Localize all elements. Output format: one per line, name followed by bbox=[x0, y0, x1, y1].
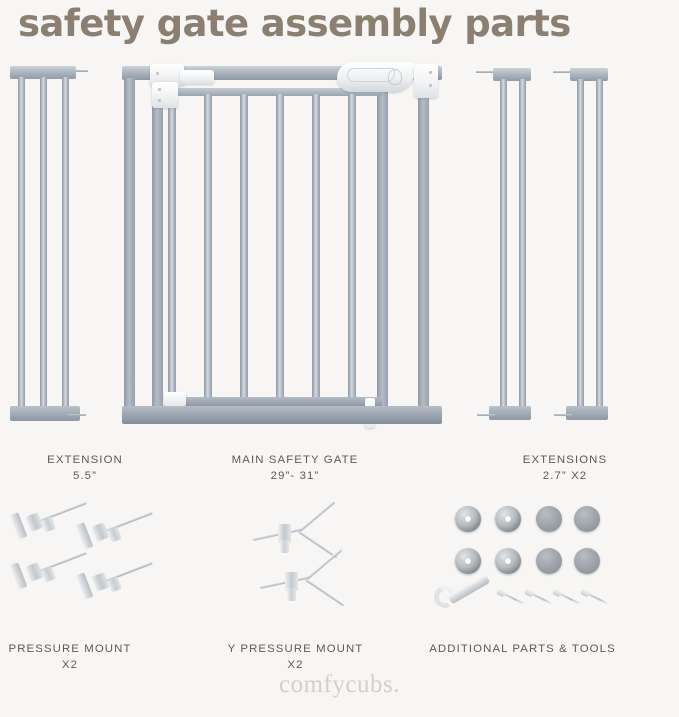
door-bar bbox=[240, 94, 248, 399]
extension-right-bottom-rod bbox=[554, 414, 572, 416]
screw-part bbox=[581, 590, 611, 596]
door-bar bbox=[312, 94, 320, 399]
pressure-mount-nut bbox=[41, 566, 56, 582]
y-mount-arm bbox=[298, 501, 335, 533]
extension-right-bar bbox=[500, 79, 507, 408]
gate-latch-bracket bbox=[414, 64, 438, 98]
screw-part bbox=[525, 590, 555, 596]
screw-dot-icon bbox=[429, 84, 432, 87]
screw-part bbox=[497, 590, 527, 596]
wall-cup-part bbox=[495, 548, 521, 574]
cap-part bbox=[536, 506, 562, 532]
pressure-mount-plate bbox=[10, 512, 28, 539]
y-pressure-mount-part bbox=[262, 548, 358, 610]
label-extensions-right: EXTENSIONS 2.7” X2 bbox=[465, 452, 665, 484]
screw-part bbox=[553, 590, 583, 596]
door-bar bbox=[204, 94, 212, 399]
wrench-icon bbox=[432, 572, 494, 618]
product-extension-right-1 bbox=[489, 68, 535, 420]
page-title: safety gate assembly parts bbox=[18, 2, 571, 45]
hardware-row bbox=[0, 492, 679, 642]
extension-right-bottom-rail bbox=[566, 406, 608, 420]
label-extension-left: EXTENSION 5.5” bbox=[0, 452, 170, 484]
gate-hinge-bracket bbox=[152, 82, 178, 108]
door-bar bbox=[168, 94, 176, 399]
extension-right-bar bbox=[596, 79, 603, 408]
extension-right-bar bbox=[519, 79, 526, 408]
gate-post-inner-left bbox=[152, 78, 163, 408]
door-bar bbox=[276, 94, 284, 399]
wrench-head bbox=[431, 583, 459, 611]
screw-dot-icon bbox=[156, 72, 159, 75]
label-additional-parts: ADDITIONAL PARTS & TOOLS bbox=[415, 641, 630, 657]
screw-dot-icon bbox=[158, 99, 161, 102]
extension-right-top-rod bbox=[553, 71, 571, 73]
wall-cup-part bbox=[455, 506, 481, 532]
extension-left-bar bbox=[62, 77, 69, 408]
pressure-mount-plate bbox=[76, 522, 94, 549]
cap-part bbox=[536, 548, 562, 574]
wall-cup-part bbox=[495, 506, 521, 532]
label-pressure-mount: PRESSURE MOUNT X2 bbox=[0, 641, 140, 673]
pressure-mount-plate bbox=[76, 572, 94, 599]
extension-right-bar bbox=[577, 79, 584, 408]
extension-left-bottom-rod bbox=[68, 414, 86, 416]
door-bottom-hinge bbox=[164, 392, 186, 406]
pressure-mount-nut bbox=[41, 516, 56, 532]
extension-right-top-rod bbox=[476, 71, 494, 73]
extension-right-bottom-rail bbox=[489, 406, 531, 420]
gate-bottom-rail bbox=[122, 406, 442, 424]
pressure-mount-nut bbox=[107, 576, 122, 592]
wall-cup-part bbox=[455, 548, 481, 574]
product-extension-right-2 bbox=[566, 68, 612, 420]
pressure-mount-nut bbox=[107, 526, 122, 542]
extension-left-bar bbox=[40, 77, 47, 408]
gate-door-panel[interactable] bbox=[164, 88, 382, 406]
screw-dot-icon bbox=[158, 88, 161, 91]
y-mount-hub bbox=[287, 588, 296, 601]
gate-post-right bbox=[418, 78, 429, 408]
pressure-mount-plate bbox=[10, 562, 28, 589]
extension-left-bar bbox=[18, 77, 25, 408]
gate-latch-knob-icon[interactable] bbox=[388, 69, 402, 85]
product-extension-left bbox=[6, 66, 84, 421]
door-bottom-frame bbox=[164, 397, 382, 406]
label-y-pressure-mount: Y PRESSURE MOUNT X2 bbox=[218, 641, 373, 673]
cap-part bbox=[574, 548, 600, 574]
door-bar bbox=[348, 94, 356, 399]
product-row bbox=[0, 58, 679, 438]
pressure-mount-part bbox=[76, 564, 156, 612]
product-main-safety-gate bbox=[122, 66, 442, 424]
y-mount-arm bbox=[305, 578, 345, 606]
label-main-safety-gate: MAIN SAFETY GATE 29”- 31” bbox=[195, 452, 395, 484]
gate-hinge-arm bbox=[180, 70, 214, 84]
extension-right-bottom-rod bbox=[477, 414, 495, 416]
brand-logo: comfycubs. bbox=[0, 671, 679, 699]
cap-part bbox=[574, 506, 600, 532]
gate-post-left bbox=[124, 78, 135, 408]
screw-dot-icon bbox=[429, 71, 432, 74]
y-mount-arm bbox=[305, 549, 342, 581]
